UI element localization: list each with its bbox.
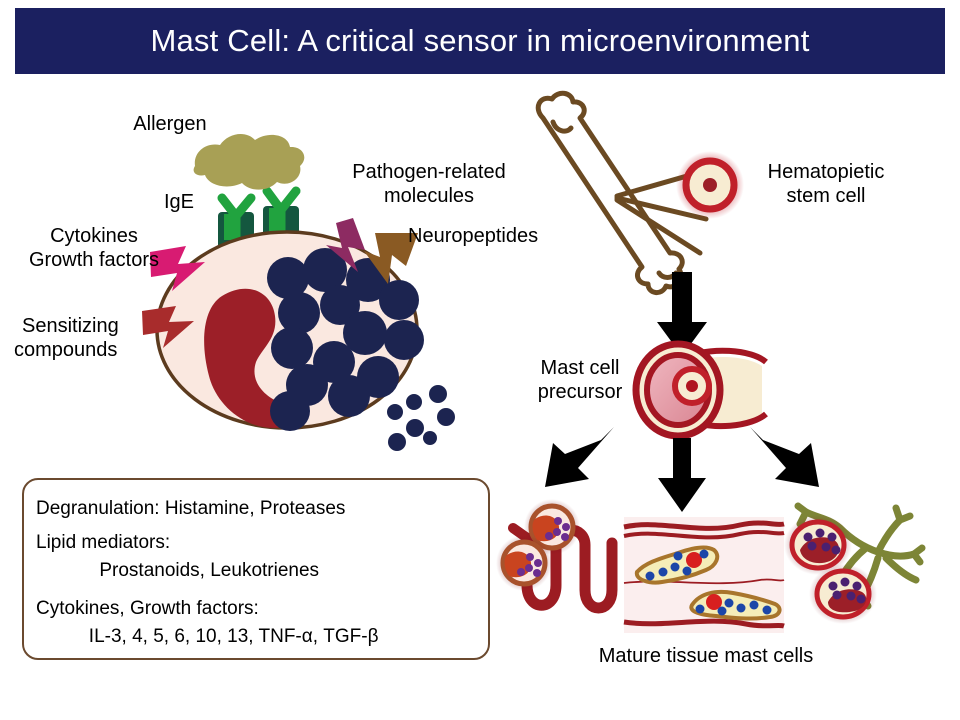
allergen-label: Allergen: [85, 112, 255, 136]
hematopietic-stem-cell-icon: [676, 151, 744, 219]
perivascular-mast-cells-panel: [496, 499, 612, 608]
sensitizing-compounds-label-line2: compounds: [14, 338, 164, 362]
mast-cell-precursor-icon: [636, 344, 766, 436]
mast-cell-precursor-label-line2: precursor: [518, 380, 642, 404]
cytokines-growth-factors-label-line1: Cytokines: [14, 224, 174, 248]
ige-label: IgE: [152, 190, 206, 214]
info-line-lipid-mediators: Lipid mediators:: [36, 532, 170, 554]
perineural-mast-cell: [809, 564, 877, 624]
precursor-to-nerve-arrow: [750, 427, 819, 487]
mediators-info-box: Degranulation: Histamine, Proteases Lipi…: [22, 478, 490, 660]
perivascular-mast-cell: [496, 535, 552, 591]
info-line-cytokines: Cytokines, Growth factors:: [36, 598, 259, 620]
hematopietic-stem-cell-label-line2: stem cell: [738, 184, 914, 208]
info-line-degranulation: Degranulation: Histamine, Proteases: [36, 498, 345, 520]
precursor-to-tissue-arrow: [658, 438, 706, 512]
slide-canvas: Mast Cell: A critical sensor in microenv…: [0, 0, 960, 720]
hematopietic-stem-cell-label-line1: Hematopietic: [738, 160, 914, 184]
precursor-to-vessel-arrow: [545, 427, 614, 487]
sensitizing-compounds-label-line1: Sensitizing: [22, 314, 162, 338]
cytokines-growth-factors-label-line2: Growth factors: [8, 248, 180, 272]
info-line-prostanoids: Prostanoids, Leukotrienes: [36, 560, 319, 582]
mature-tissue-mast-cells-label: Mature tissue mast cells: [556, 644, 856, 668]
perineural-mast-cells-panel: [784, 506, 922, 624]
connective-tissue-mast-cells-panel: [624, 517, 784, 633]
info-line-interleukins: IL-3, 4, 5, 6, 10, 13, TNF-α, TGF-β: [36, 626, 379, 648]
allergen-icon: [194, 134, 305, 190]
pathogen-related-molecules-label-line1: Pathogen-related: [334, 160, 524, 184]
mast-cell-precursor-label-line1: Mast cell: [518, 356, 642, 380]
neuropeptides-label: Neuropeptides: [408, 224, 578, 248]
released-granules: [387, 385, 455, 451]
pathogen-related-molecules-label-line2: molecules: [334, 184, 524, 208]
mast-cell-granules: [267, 248, 424, 431]
